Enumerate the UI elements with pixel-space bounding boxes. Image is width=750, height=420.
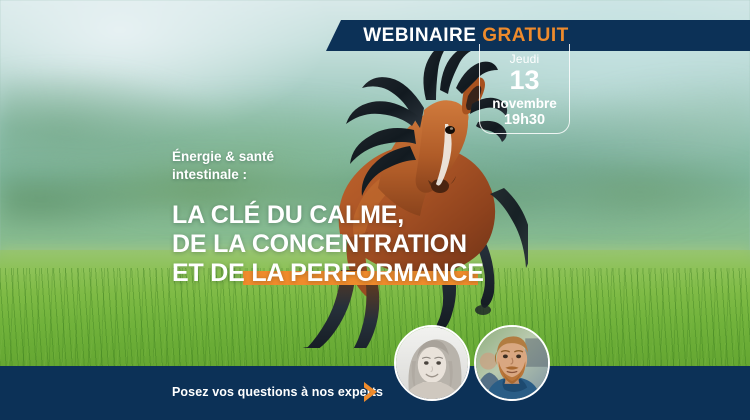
headline-line-1: LA CLÉ DU CALME,	[172, 201, 484, 230]
event-time: 19h30	[480, 112, 569, 129]
headline-line-3-text: ET DE LA PERFORMANCE	[172, 259, 484, 287]
chevron-right-icon[interactable]	[360, 380, 382, 404]
banner-free-word: GRATUIT	[482, 25, 569, 46]
eyebrow-line-1: Énergie & santé	[172, 148, 274, 166]
event-month: novembre	[480, 96, 569, 112]
headline-line-3: ET DE LA PERFORMANCE	[172, 259, 484, 288]
main-headline: LA CLÉ DU CALME, DE LA CONCENTRATION ET …	[172, 201, 484, 288]
expert-avatar-woman	[394, 325, 470, 401]
eyebrow-text: Énergie & santé intestinale :	[172, 148, 274, 184]
event-date-box: Jeudi 13 novembre 19h30	[479, 44, 570, 134]
banner-main-word: WEBINAIRE	[363, 25, 476, 46]
expert-avatar-man	[474, 325, 550, 401]
webinar-promo-poster: WEBINAIRE GRATUIT Jeudi 13 novembre 19h3…	[0, 0, 750, 420]
footer-cta-text: Posez vos questions à nos experts	[172, 385, 383, 399]
headline-line-2: DE LA CONCENTRATION	[172, 230, 484, 259]
event-weekday: Jeudi	[480, 52, 569, 66]
event-day-number: 13	[480, 67, 569, 95]
eyebrow-line-2: intestinale :	[172, 166, 274, 184]
